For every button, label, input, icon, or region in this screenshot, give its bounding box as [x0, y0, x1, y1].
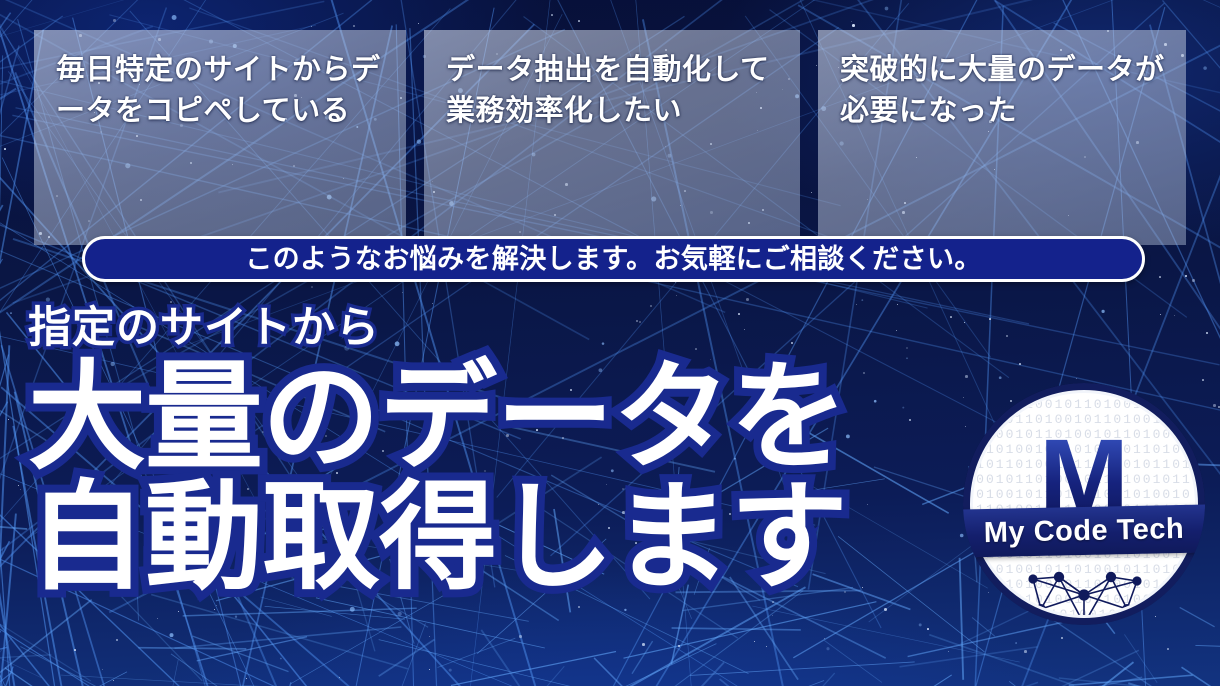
- logo-inner-circle: 1011010010110100101101001011010010110100…: [970, 390, 1198, 618]
- solution-ribbon: このようなお悩みを解決します。お気軽にご相談ください。: [82, 236, 1145, 282]
- logo-name-text: My Code Tech: [983, 512, 1184, 549]
- poster-canvas: 毎日特定のサイトからデータをコピペしている データ抽出を自動化して業務効率化した…: [0, 0, 1220, 686]
- problem-card-text: 毎日特定のサイトからデータをコピペしている: [56, 50, 390, 132]
- problem-card-bulk-data: 突破的に大量のデータが必要になった: [818, 30, 1186, 245]
- headline-kicker: 指定のサイトから: [28, 306, 978, 351]
- problem-card-copy-paste: 毎日特定のサイトからデータをコピペしている: [34, 30, 406, 245]
- headline-block: 指定のサイトから 大量のデータを 自動取得します: [28, 306, 978, 602]
- problem-card-list: 毎日特定のサイトからデータをコピペしている データ抽出を自動化して業務効率化した…: [0, 0, 1220, 250]
- logo-name-band: My Code Tech: [963, 504, 1205, 558]
- solution-ribbon-text: このようなお悩みを解決します。お気軽にご相談ください。: [245, 246, 982, 273]
- headline-line-1: 大量のデータを: [28, 355, 978, 481]
- brand-logo: 1011010010110100101101001011010010110100…: [963, 383, 1205, 625]
- problem-card-automate: データ抽出を自動化して業務効率化したい: [424, 30, 800, 245]
- network-nodes-icon: [1019, 569, 1149, 618]
- headline-line-2: 自動取得します: [28, 475, 978, 601]
- problem-card-text: 突破的に大量のデータが必要になった: [840, 50, 1170, 132]
- problem-card-text: データ抽出を自動化して業務効率化したい: [446, 50, 784, 132]
